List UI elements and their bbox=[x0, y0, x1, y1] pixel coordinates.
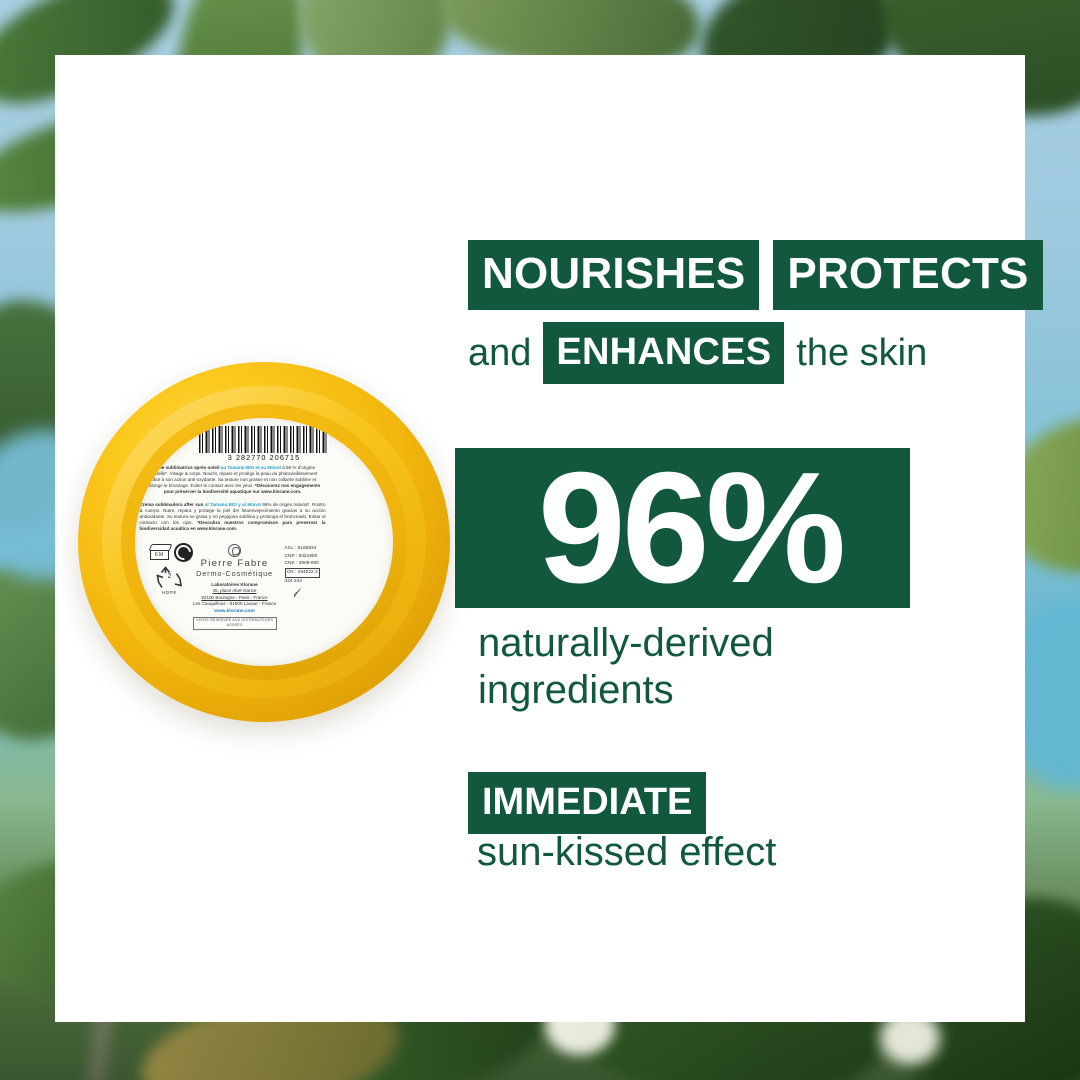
mobius-triangle-icon: 2 bbox=[156, 566, 183, 590]
address-line-3: Les Cauquillous - 81500 Lavaur - France bbox=[193, 601, 277, 608]
brand-website: www.klorane.com bbox=[193, 609, 277, 616]
code-cnk: CNK : 3909-900 bbox=[285, 560, 329, 568]
headline-row-2: and ENHANCES the skin bbox=[468, 322, 1008, 384]
recycling-icon: 2 HDPE bbox=[153, 566, 187, 596]
brand-address: Laboratoires Klorane 45, place Abel-Ganc… bbox=[193, 582, 277, 630]
headline-block: NOURISHES PROTECTS and ENHANCES the skin bbox=[468, 240, 1008, 384]
pierre-fabre-logo-icon bbox=[228, 544, 241, 557]
pao-duration: 6 M bbox=[150, 550, 169, 560]
distribution-notice: VENTE RÉSERVÉE AUX DISTRIBUTEURS AGRÉÉS bbox=[193, 617, 277, 630]
chip-immediate: IMMEDIATE bbox=[468, 772, 706, 834]
label-es-highlight: al Tamanu BIO y al Monoï bbox=[205, 502, 261, 507]
headline-tail: the skin bbox=[796, 334, 927, 372]
code-extra: 324 244 bbox=[285, 578, 329, 586]
code-cnp: CNP : 6321950 bbox=[285, 553, 329, 561]
product-jar: 3 282770 206715 Crème sublimatrice après… bbox=[78, 362, 450, 722]
stat-subtitle: naturally-derived ingredients bbox=[478, 620, 948, 714]
barcode-icon bbox=[199, 426, 329, 453]
barcode-block: 3 282770 206715 bbox=[199, 426, 329, 463]
effect-subtitle: sun-kissed effect bbox=[477, 832, 776, 872]
stat-sub-line2: ingredients bbox=[478, 667, 948, 714]
period-after-opening-icon: 6 M bbox=[149, 544, 171, 560]
label-fr-lead: Crème sublimatrice après-soleil bbox=[150, 465, 221, 470]
brand-block: Pierre Fabre Dermo-Cosmétique Laboratoir… bbox=[193, 544, 277, 630]
chip-protects: PROTECTS bbox=[773, 240, 1042, 310]
chip-enhances: ENHANCES bbox=[543, 322, 784, 384]
label-bottom-row: 6 M bbox=[135, 544, 394, 624]
label-es-lead: Crema sublimadora after sun bbox=[140, 502, 205, 507]
brand-name-line1: Pierre Fabre bbox=[193, 558, 277, 569]
chip-nourishes: NOURISHES bbox=[468, 240, 759, 310]
promo-image: NOURISHES PROTECTS and ENHANCES the skin… bbox=[0, 0, 1080, 1080]
label-paragraph-fr: Crème sublimatrice après-soleil au Taman… bbox=[144, 465, 322, 496]
green-dot-icon bbox=[174, 543, 193, 562]
barcode-number: 3 282770 206715 bbox=[199, 453, 329, 462]
stat-value: 96% bbox=[470, 449, 910, 607]
code-acl: ACL : 6160834 bbox=[285, 545, 329, 553]
headline-and: and bbox=[468, 334, 531, 372]
recycle-material: HDPE bbox=[153, 590, 187, 595]
label-paragraph-es: Crema sublimadora after sun al Tamanu BI… bbox=[140, 502, 326, 533]
brand-name-line2: Dermo-Cosmétique bbox=[193, 569, 277, 578]
label-icons: 6 M bbox=[147, 544, 199, 560]
label-fr-highlight: au Tamanu BIO et au Monoï bbox=[221, 465, 281, 470]
recycling-arrow-icon bbox=[293, 586, 303, 598]
label-codes: ACL : 6160834 CNP : 6321950 CNK : 3909-9… bbox=[285, 545, 329, 586]
headline-row-1: NOURISHES PROTECTS bbox=[468, 240, 1008, 310]
stat-sub-line1: naturally-derived bbox=[478, 620, 948, 667]
code-cn: CN : 194022.3 bbox=[285, 568, 320, 578]
recycle-number: 2 bbox=[156, 573, 183, 580]
jar-label: 3 282770 206715 Crème sublimatrice après… bbox=[135, 418, 394, 666]
